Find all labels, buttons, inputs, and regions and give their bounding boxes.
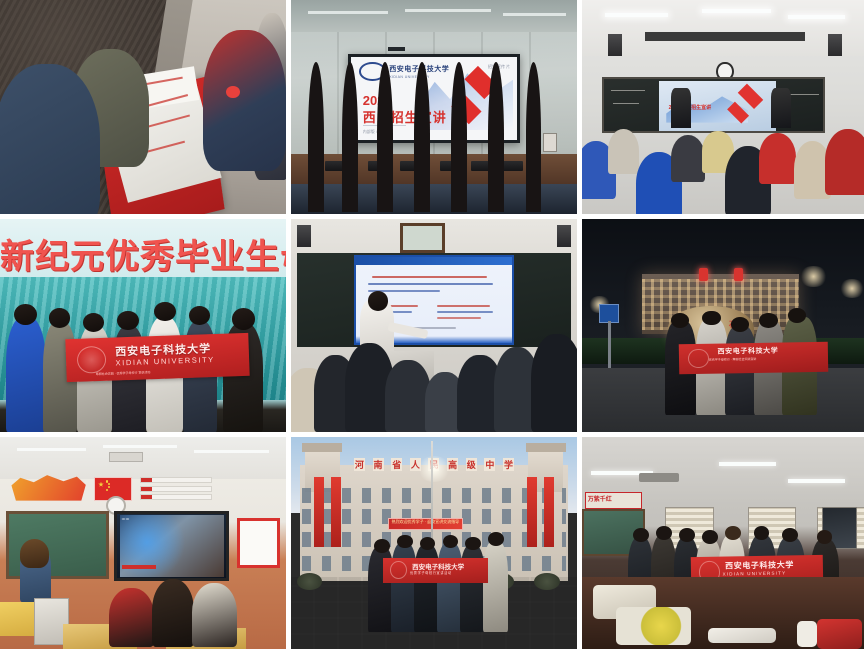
wall-speaker [828,34,842,55]
core-values-slogan-board [140,477,212,500]
paper-cup [797,621,817,646]
person-head [754,526,770,540]
student-seats [582,120,864,214]
person-head [232,308,255,329]
collage-cell-8[interactable]: 河 南 省 人 民 高 级 中 学 热烈欢迎优秀学子 · 返校宣讲交流指导 [291,437,577,649]
vertical-red-banner [331,477,341,547]
ceiling-fan [639,473,679,481]
person-red-jacket-volunteer [203,30,286,171]
banner-seal-icon [76,346,106,374]
audience-head [488,62,504,212]
wall-chart [237,518,280,569]
person-head [731,317,750,332]
led-welcome-sign: 热烈欢迎优秀学子 · 返校宣讲交流指导 [388,518,462,531]
photo-school-building-group: 河 南 省 人 民 高 级 中 学 热烈欢迎优秀学子 · 返校宣讲交流指导 [291,437,577,649]
audience-head [414,62,430,212]
street-light-glow [839,279,864,298]
ceiling [291,0,577,32]
banner-subtitle: 优秀学子母校行宣讲活动 [410,570,452,575]
person [6,317,46,432]
person-head [49,308,70,327]
bush [534,573,560,590]
decorated-bag [616,607,690,645]
photo-auditorium-title-slide: 西安电子科技大学 XIDIAN UNIVERSITY 招生 宣传 片 2025 … [291,0,577,214]
audience-head [377,62,393,212]
person [483,541,509,632]
slide-text-line [437,317,481,319]
person-head [374,539,390,553]
ceiling-light [719,462,776,466]
person-head [817,530,833,544]
ceiling-beam [645,32,805,41]
collage-cell-9[interactable]: 万紫千红 西安电子科技大学 XIDIA [582,437,864,649]
student [109,588,155,647]
wall-speaker [608,34,622,55]
ceiling-light [503,13,566,16]
person-head [633,528,649,542]
wall-speaker [557,225,571,246]
mural-sky [0,219,286,283]
photo-outdoor-consultation-desk [0,0,286,214]
photo-classroom-tv-teacher: 00:00 [0,437,286,649]
student [671,135,705,182]
person-head [83,313,104,332]
window-row [302,488,565,503]
person-head [782,528,798,542]
person-head [725,526,741,540]
photo-office-group-banner: 万紫千红 西安电子科技大学 XIDIA [582,437,864,649]
audience-head [308,62,324,212]
ceiling [0,437,286,479]
person-head [759,313,778,328]
wall-speaker [297,225,311,246]
ceiling-light [605,13,668,17]
tv-caption-bar [122,565,157,569]
wall-socket [543,133,557,152]
person-head [671,313,690,328]
person [391,543,417,632]
sign-char: 南 [373,458,384,471]
red-lantern-icon [699,268,708,281]
flag-star [98,482,104,488]
wall-frame [400,223,446,253]
person-head [117,311,138,330]
ceiling-light [405,9,491,12]
slide-header-bar [356,257,512,265]
slogan-row [140,494,212,500]
person-head [702,311,721,326]
ceiling-light [103,445,177,448]
banner-university-en: XIDIAN UNIVERSITY [722,570,786,576]
collage-cell-4[interactable]: 新纪元优秀毕业生母校慧 西安电子科技大学 XIDIAN UNIVERSITY 寒… [0,219,286,432]
person-head [154,302,175,321]
sign-char: 学 [503,458,514,471]
ceiling-light [788,15,845,19]
led-sign-text: 热烈欢迎优秀学子 · 返校宣讲交流指导 [389,519,461,526]
slide-text-line [368,283,493,285]
core-values-decor [11,475,85,500]
chalk-mark [611,90,645,91]
red-lantern-icon [734,268,743,281]
ceiling-light [194,450,268,453]
person-navy-parka [0,64,100,214]
photo-classroom-audience: 2025 西电招生宣讲 [582,0,864,214]
person-head [702,530,718,544]
student [759,133,796,184]
banner-subtitle: 寒假社会实践 · 优秀学子母校行 宣讲活动 [96,370,151,376]
collage-cell-6[interactable]: 校 训 石 西安电子科技大学 优秀学子母校行 · 寒假社会实践宣讲 [582,219,864,432]
sign-char: 级 [466,458,477,471]
person-head [397,535,413,549]
tower-cap [302,443,342,451]
xidian-red-banner: 西安电子科技大学 优秀学子母校行宣讲活动 [383,558,489,583]
slide-text-line [437,311,493,313]
rolled-poster [708,628,777,643]
banner-seal-icon [688,348,709,368]
slide-text-line [437,305,490,307]
sign-char: 中 [484,458,495,471]
bush [297,573,323,590]
ceiling-light [308,11,388,14]
sun-flare [417,456,451,481]
banner-subtitle: 优秀学子母校行 · 寒假社会实践宣讲 [709,357,757,362]
vertical-red-banner [544,477,554,547]
ceiling-light [17,448,86,451]
slogan-row [140,477,212,483]
photo-collage-grid: 西安电子科技大学 XIDIAN UNIVERSITY 招生 宣传 片 2025 … [0,0,864,649]
xidian-red-banner: 西安电子科技大学 优秀学子母校行 · 寒假社会实践宣讲 [679,341,828,373]
xidian-red-banner: 西安电子科技大学 XIDIAN UNIVERSITY 寒假社会实践 · 优秀学子… [65,333,249,382]
banner-university-en: XIDIAN UNIVERSITY [115,355,215,367]
student [825,129,864,195]
ceiling-light [788,479,845,483]
student [385,360,431,432]
banner-university-cn: 西安电子科技大学 [115,340,211,359]
collage-cell-7[interactable]: 00:00 [0,437,286,649]
person [437,543,463,632]
sign-pole [608,321,611,372]
flag-star [106,489,108,491]
collage-cell-3[interactable]: 2025 西电招生宣讲 [582,0,864,214]
ceiling-vent [109,452,143,463]
sign-char: 省 [391,458,402,471]
street-light-glow [799,266,828,287]
student [531,334,577,432]
student [152,579,195,647]
audience-head [526,62,542,212]
student [608,129,639,174]
slogan-row [140,486,212,492]
photo-lecture-presenter [291,219,577,432]
banner-university-cn: 西安电子科技大学 [412,561,464,571]
student [192,583,238,647]
presenter-head [368,291,388,310]
photo-group-mural-banner: 新纪元优秀毕业生母校慧 西安电子科技大学 XIDIAN UNIVERSITY 寒… [0,219,286,432]
screen-mount [388,47,405,51]
banner-seal-icon [390,561,407,579]
flag-star [108,486,110,488]
vertical-red-banner [527,477,537,547]
wall-television: 00:00 [114,511,228,581]
chalk-mark [613,103,639,104]
audience-head [451,62,467,212]
collage-cell-2[interactable]: 西安电子科技大学 XIDIAN UNIVERSITY 招生 宣传 片 2025 … [291,0,577,214]
collage-cell-5[interactable] [291,219,577,432]
banner-university-cn: 西安电子科技大学 [725,559,794,571]
person-head [679,528,695,542]
banner-university-cn: 西安电子科技大学 [718,345,779,356]
teacher-head [20,539,49,569]
person-head [656,526,672,540]
collage-cell-1[interactable] [0,0,286,214]
audience-head [342,62,358,212]
sign-char: 河 [354,458,365,471]
flag-star [108,483,110,485]
tower-cap [526,443,566,451]
red-bag [817,619,863,649]
wall-calligraphy-plaque [585,492,642,509]
slide-red-diamond [738,84,764,110]
slide-text-line [372,276,488,278]
photo-night-campus-gate: 校 训 石 西安电子科技大学 优秀学子母校行 · 寒假社会实践宣讲 [582,219,864,432]
vertical-red-banner [314,477,324,547]
ceiling-light [702,9,771,13]
